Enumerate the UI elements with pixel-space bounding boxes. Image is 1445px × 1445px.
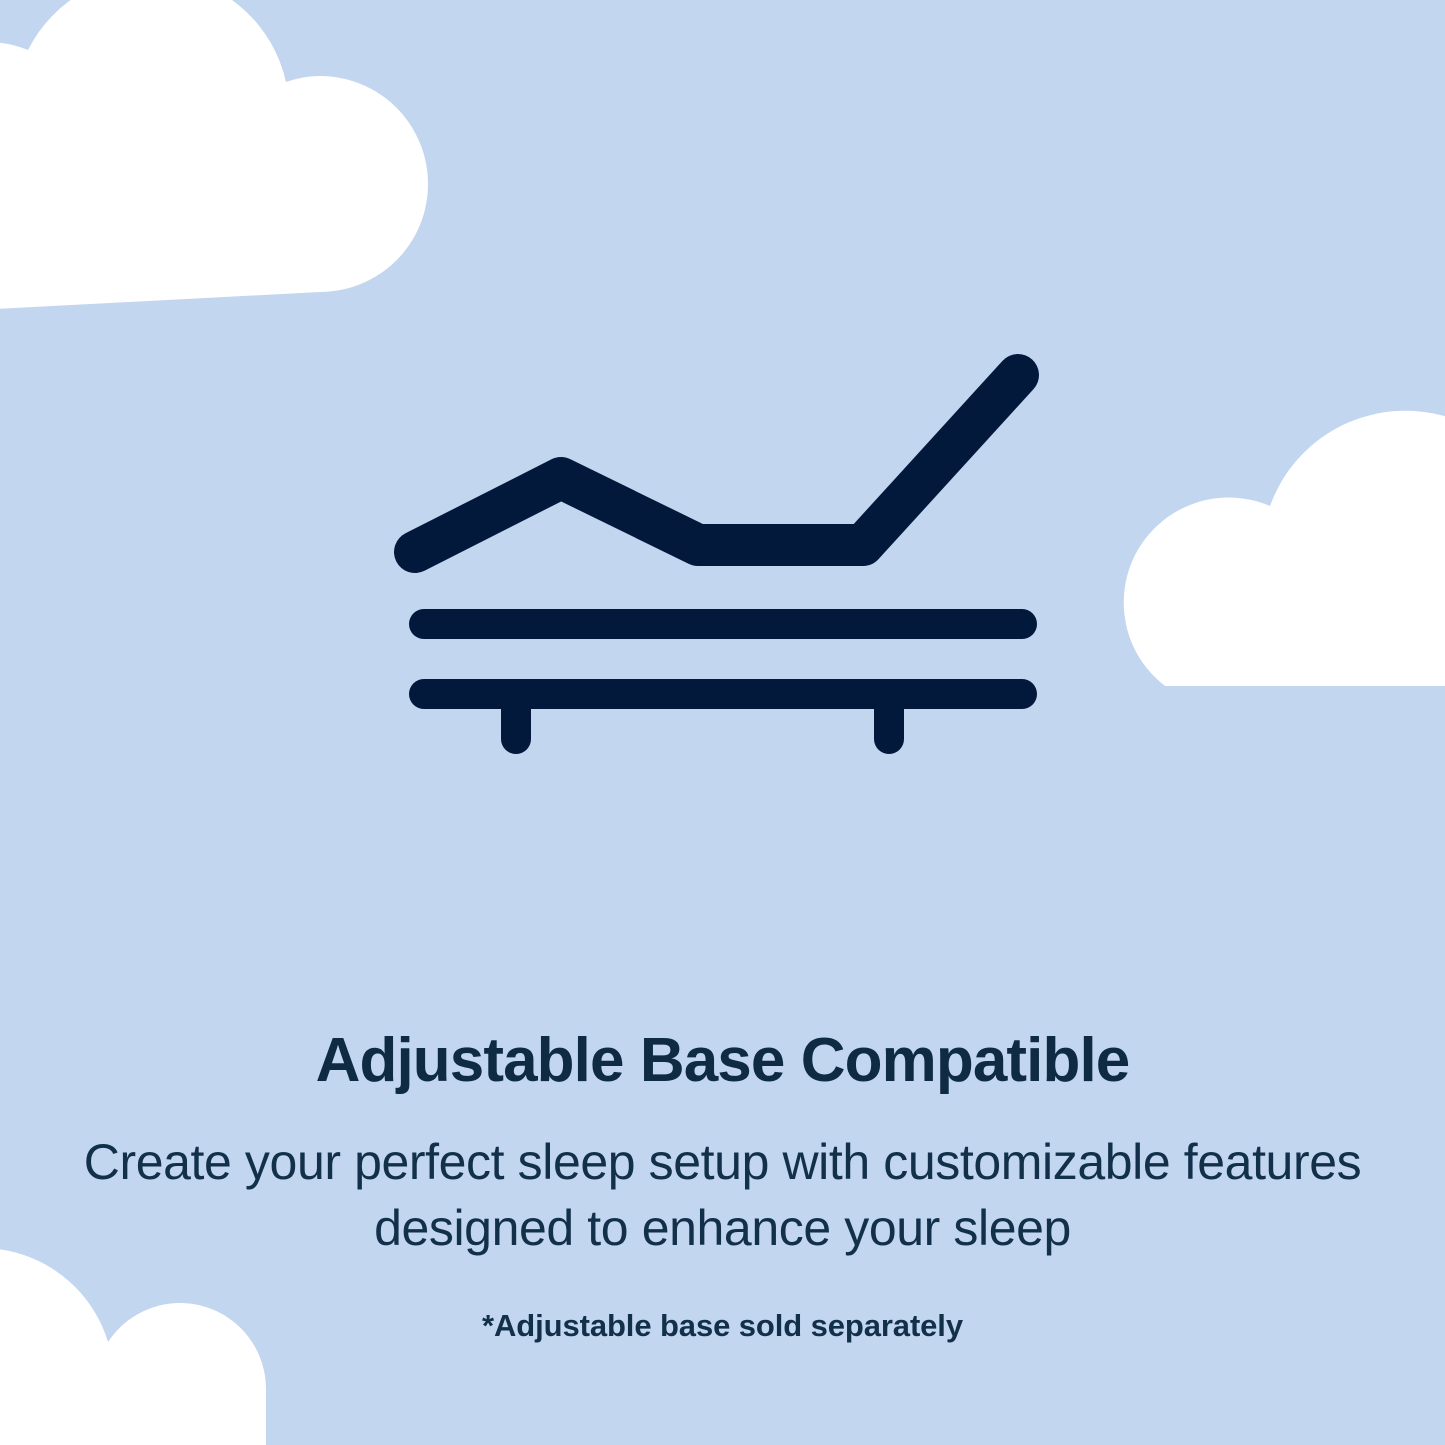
- bed-leg-right: [874, 694, 904, 754]
- page-title: Adjustable Base Compatible: [40, 1028, 1405, 1095]
- bed-leg-left: [501, 694, 531, 754]
- bed-rail-upper: [409, 609, 1037, 639]
- text-content: Adjustable Base Compatible Create your p…: [0, 1028, 1445, 1346]
- adjustable-bed-icon: [393, 330, 1053, 770]
- subtitle-text: Create your perfect sleep setup with cus…: [50, 1129, 1395, 1262]
- footnote-text: *Adjustable base sold separately: [40, 1306, 1405, 1346]
- icon-container: [0, 330, 1445, 800]
- feature-card: Adjustable Base Compatible Create your p…: [0, 0, 1445, 1445]
- cloud-top-left-icon: [0, 0, 428, 315]
